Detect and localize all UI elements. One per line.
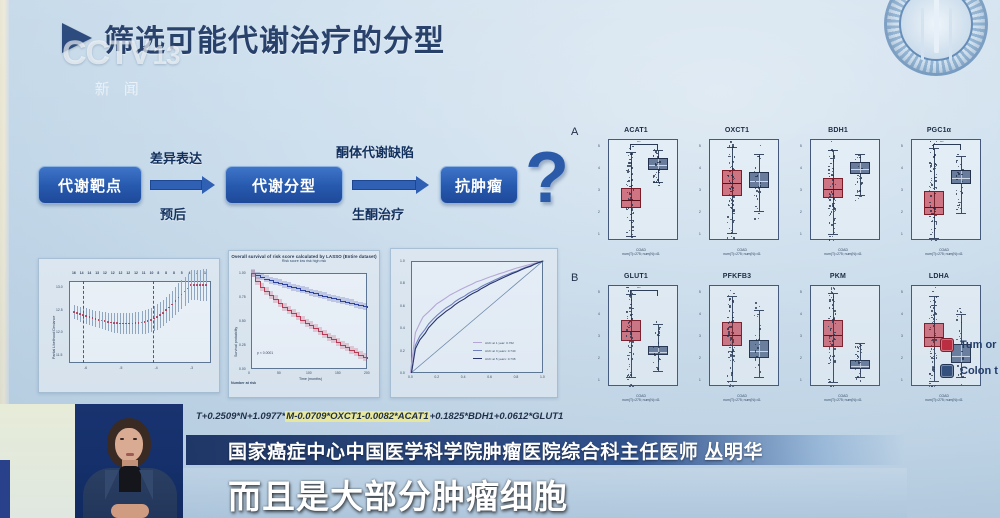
y-tick: 4 (800, 166, 802, 170)
boxplot-group: PKM54321COADnum(T)=275; num(N)=41 (792, 272, 884, 404)
legend-item-normal: Colon t (940, 364, 1000, 378)
x-axis-label: COADnum(T)=275; num(N)=41 (802, 249, 884, 257)
boxplot-group: OXCT154321COADnum(T)=275; num(N)=41 (691, 126, 783, 258)
speaker-inner-top (119, 466, 141, 492)
y-tick: 3 (699, 334, 701, 338)
y-tick: 1 (800, 378, 802, 382)
jitter-points (912, 140, 980, 239)
page-title: 筛选可能代谢治疗的分型 (104, 16, 445, 60)
broadcast-screen: 筛选可能代谢治疗的分型 代谢靶点 代谢分型 抗肿瘤 差异表达 预后 酮体代谢缺陷… (0, 0, 1000, 518)
gene-title: LDHA (893, 273, 985, 280)
legend-label-tumor: Tum or (960, 339, 996, 351)
inset-left-accent (0, 460, 10, 518)
jitter-points (609, 140, 677, 239)
x-axis-label: COADnum(T)=275; num(N)=41 (701, 395, 783, 403)
boxplot-group: PFKFB354321COADnum(T)=275; num(N)=41 (691, 272, 783, 404)
speaker-eye-right (133, 438, 137, 440)
jitter-points (609, 286, 677, 385)
y-tick: 2 (901, 356, 903, 360)
y-tick: 5 (901, 144, 903, 148)
formula-prefix: T+0.2509*N+1.0977* (196, 411, 285, 422)
speaker-video-inset (75, 404, 183, 518)
y-tick: 2 (598, 210, 600, 214)
gene-title: OXCT1 (691, 127, 783, 134)
plot-frame: 54321 (709, 139, 779, 240)
y-tick: 4 (598, 312, 600, 316)
y-tick: 2 (901, 210, 903, 214)
speaker-eye-left (120, 438, 124, 440)
speaker-face (115, 428, 143, 462)
formula-highlight: M-0.0709*OXCT1-0.0082*ACAT1 (285, 411, 429, 422)
flow-diagram: 代谢靶点 代谢分型 抗肿瘤 差异表达 预后 酮体代谢缺陷 生酮治疗 ? (20, 148, 580, 240)
y-tick: 4 (800, 312, 802, 316)
normal-color-swatch (940, 364, 954, 378)
risk-score-formula: T+0.2509*N+1.0977*M-0.0709*OXCT1-0.0082*… (196, 409, 756, 425)
x-axis-label: COADnum(T)=275; num(N)=41 (802, 395, 884, 403)
significance-label: *** (637, 286, 641, 290)
subtitle-caption: 而且是大部分肿瘤细胞 (186, 474, 906, 514)
y-tick: 1 (699, 232, 701, 236)
y-tick: 3 (800, 188, 802, 192)
legend-item-tumor: Tum or (940, 338, 1000, 352)
plot-frame: 54321 (810, 139, 880, 240)
speaker-lapel-left (105, 470, 119, 500)
y-tick: 4 (598, 166, 600, 170)
x-axis-label: COADnum(T)=275; num(N)=41 (701, 249, 783, 257)
boxplot-group: ACAT154321***COADnum(T)=275; num(N)=41 (590, 126, 682, 258)
jitter-points (811, 286, 879, 385)
flow-label-below-1: 预后 (160, 204, 186, 223)
subtitle-text: 而且是大部分肿瘤细胞 (228, 470, 568, 518)
jitter-points (710, 140, 778, 239)
question-mark-icon: ? (525, 142, 569, 214)
x-axis-label: COADnum(T)=275; num(N)=41 (600, 249, 682, 257)
y-tick: 1 (598, 378, 600, 382)
y-tick: 3 (901, 188, 903, 192)
y-tick: 4 (699, 166, 701, 170)
y-tick: 2 (699, 356, 701, 360)
x-axis-label: COADnum(T)=275; num(N)=41 (903, 395, 985, 403)
y-tick: 5 (699, 144, 701, 148)
gene-title: BDH1 (792, 127, 884, 134)
plot-frame: 54321*** (608, 285, 678, 386)
flow-label-above-1: 差异表达 (150, 148, 202, 167)
figure-kaplan-meier: Overall survival of risk score calculate… (228, 250, 380, 398)
y-tick: 3 (699, 188, 701, 192)
tumor-color-swatch (940, 338, 954, 352)
flow-box-metabolic-target: 代谢靶点 (38, 166, 142, 204)
gene-title: ACAT1 (590, 127, 682, 134)
plot-frame: 54321 (810, 285, 880, 386)
boxplot-group: BDH154321COADnum(T)=275; num(N)=41 (792, 126, 884, 258)
flow-box-antitumor: 抗肿瘤 (440, 166, 518, 204)
flow-box-metabolic-subtype: 代谢分型 (225, 166, 343, 204)
speaker-lapel-right (139, 470, 153, 500)
y-tick: 3 (598, 334, 600, 338)
y-tick: 5 (598, 290, 600, 294)
triangle-right-icon (62, 23, 92, 53)
y-tick: 1 (598, 232, 600, 236)
figure-lasso-cv: 1614141312121212121110888542113.012.512.… (38, 258, 220, 393)
significance-label: *** (940, 140, 944, 144)
plot-frame: 54321 (709, 285, 779, 386)
significance-bracket (630, 290, 658, 296)
significance-bracket (933, 144, 961, 150)
slide-title-row: 筛选可能代谢治疗的分型 (62, 16, 445, 60)
y-tick: 2 (699, 210, 701, 214)
flow-arrow-2-icon (352, 176, 430, 194)
y-tick: 4 (901, 312, 903, 316)
y-tick: 4 (901, 166, 903, 170)
y-tick: 2 (800, 356, 802, 360)
y-tick: 2 (598, 356, 600, 360)
gene-title: PKM (792, 273, 884, 280)
x-axis-label: COADnum(T)=275; num(N)=41 (903, 249, 985, 257)
figure-roc-curve: 1.00.80.60.40.20.00.00.20.40.60.81.0AUC … (390, 248, 558, 398)
y-tick: 1 (800, 232, 802, 236)
flow-label-above-2: 酮体代谢缺陷 (336, 142, 414, 161)
jitter-points (811, 140, 879, 239)
gene-title: PFKFB3 (691, 273, 783, 280)
plot-frame: 54321*** (608, 139, 678, 240)
y-tick: 5 (598, 144, 600, 148)
y-tick: 3 (598, 188, 600, 192)
x-axis-label: COADnum(T)=275; num(N)=41 (600, 395, 682, 403)
y-tick: 4 (699, 312, 701, 316)
speaker-hands (111, 504, 149, 518)
legend-label-normal: Colon t (960, 365, 998, 377)
figure-panel-b: B GLUT154321***COADnum(T)=275; num(N)=41… (568, 272, 992, 404)
speaker-name-text: 国家癌症中心中国医学科学院肿瘤医院综合科主任医师 丛明华 (228, 437, 763, 464)
gene-title: PGC1α (893, 127, 985, 134)
y-tick: 1 (901, 232, 903, 236)
gene-title: GLUT1 (590, 273, 682, 280)
inset-left-filler (0, 404, 75, 518)
significance-label: *** (637, 140, 641, 144)
boxplot-group: GLUT154321***COADnum(T)=275; num(N)=41 (590, 272, 682, 404)
figure-legend: Tum or Colon t (940, 338, 1000, 390)
y-tick: 5 (901, 290, 903, 294)
boxplot-group: PGC1α54321***COADnum(T)=275; num(N)=41 (893, 126, 985, 258)
flow-arrow-1-icon (150, 176, 216, 194)
speaker-mouth (126, 453, 134, 456)
speaker-name-bar: 国家癌症中心中国医学科学院肿瘤医院综合科主任医师 丛明华 (186, 435, 904, 465)
significance-bracket (630, 144, 658, 150)
y-tick: 3 (901, 334, 903, 338)
y-tick: 2 (800, 210, 802, 214)
jitter-points (710, 286, 778, 385)
y-tick: 5 (699, 290, 701, 294)
institution-seal-icon (884, 0, 988, 76)
plot-frame: 54321*** (911, 139, 981, 240)
y-tick: 3 (800, 334, 802, 338)
y-tick: 1 (699, 378, 701, 382)
figure-panel-a: A ACAT154321***COADnum(T)=275; num(N)=41… (568, 126, 992, 258)
y-tick: 5 (800, 290, 802, 294)
flow-label-below-2: 生酮治疗 (352, 204, 404, 223)
y-tick: 1 (901, 378, 903, 382)
y-tick: 5 (800, 144, 802, 148)
formula-suffix: +0.1825*BDH1+0.0612*GLUT1 (430, 411, 564, 422)
